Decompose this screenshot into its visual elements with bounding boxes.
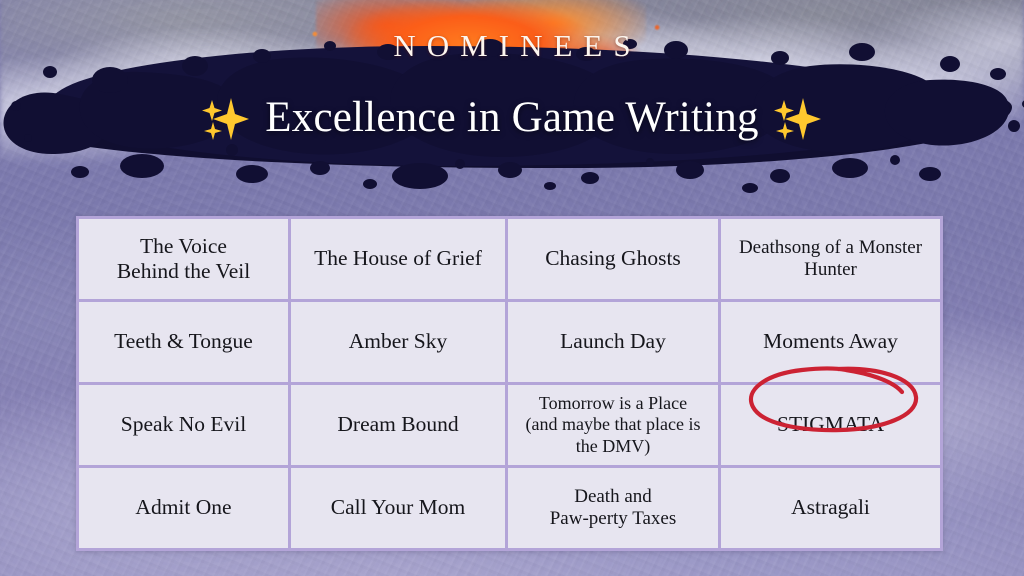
nominee-label: Astragali bbox=[791, 495, 870, 519]
nominee-label: The VoiceBehind the Veil bbox=[117, 234, 250, 283]
nominee-cell[interactable]: Speak No Evil bbox=[78, 384, 290, 467]
nominee-cell[interactable]: Deathsong of a MonsterHunter bbox=[720, 218, 942, 301]
nominee-label: Speak No Evil bbox=[121, 412, 246, 436]
table-row: The VoiceBehind the VeilThe House of Gri… bbox=[78, 218, 942, 301]
table-row: Speak No EvilDream BoundTomorrow is a Pl… bbox=[78, 384, 942, 467]
nominee-cell[interactable]: Admit One bbox=[78, 467, 290, 550]
nominee-cell[interactable]: Launch Day bbox=[507, 301, 720, 384]
nominee-cell[interactable]: Dream Bound bbox=[290, 384, 507, 467]
nominee-label: STIGMATA bbox=[777, 412, 884, 436]
nominee-label: Call Your Mom bbox=[331, 495, 465, 519]
nominees-table-body: The VoiceBehind the VeilThe House of Gri… bbox=[78, 218, 942, 550]
eyebrow-nominees: NOMINEES bbox=[0, 30, 1024, 61]
table-row: Admit OneCall Your MomDeath andPaw-perty… bbox=[78, 467, 942, 550]
nominee-cell[interactable]: Call Your Mom bbox=[290, 467, 507, 550]
nominee-cell[interactable]: Tomorrow is a Place(and maybe that place… bbox=[507, 384, 720, 467]
sparkles-icon-right bbox=[773, 94, 823, 142]
slide-title-row: Excellence in Game Writing bbox=[0, 94, 1024, 142]
nominees-table: The VoiceBehind the VeilThe House of Gri… bbox=[76, 216, 943, 551]
nominee-label: Amber Sky bbox=[349, 329, 448, 353]
nominee-label: Admit One bbox=[135, 495, 231, 519]
nominee-label: Moments Away bbox=[763, 329, 898, 353]
nominee-label: Teeth & Tongue bbox=[114, 329, 253, 353]
nominee-label: Launch Day bbox=[560, 329, 666, 353]
nominee-cell[interactable]: Amber Sky bbox=[290, 301, 507, 384]
nominee-cell[interactable]: Astragali bbox=[720, 467, 942, 550]
nominee-label: Tomorrow is a Place(and maybe that place… bbox=[526, 393, 701, 456]
nominee-cell[interactable]: Teeth & Tongue bbox=[78, 301, 290, 384]
nominee-cell[interactable]: Chasing Ghosts bbox=[507, 218, 720, 301]
page-title: Excellence in Game Writing bbox=[265, 95, 758, 140]
nominee-cell[interactable]: Moments Away bbox=[720, 301, 942, 384]
nominee-label: Dream Bound bbox=[337, 412, 458, 436]
nominee-label: Deathsong of a MonsterHunter bbox=[739, 237, 922, 280]
slide-root: NOMINEES Excellence in Game Writing The … bbox=[0, 0, 1024, 576]
nominee-cell[interactable]: The VoiceBehind the Veil bbox=[78, 218, 290, 301]
nominee-cell[interactable]: Death andPaw-perty Taxes bbox=[507, 467, 720, 550]
nominee-label: Chasing Ghosts bbox=[545, 246, 681, 270]
nominee-cell-winner[interactable]: STIGMATA bbox=[720, 384, 942, 467]
table-row: Teeth & TongueAmber SkyLaunch DayMoments… bbox=[78, 301, 942, 384]
nominee-cell[interactable]: The House of Grief bbox=[290, 218, 507, 301]
sparkles-icon-left bbox=[201, 94, 251, 142]
nominee-label: The House of Grief bbox=[314, 246, 482, 270]
nominee-label: Death andPaw-perty Taxes bbox=[550, 486, 677, 529]
